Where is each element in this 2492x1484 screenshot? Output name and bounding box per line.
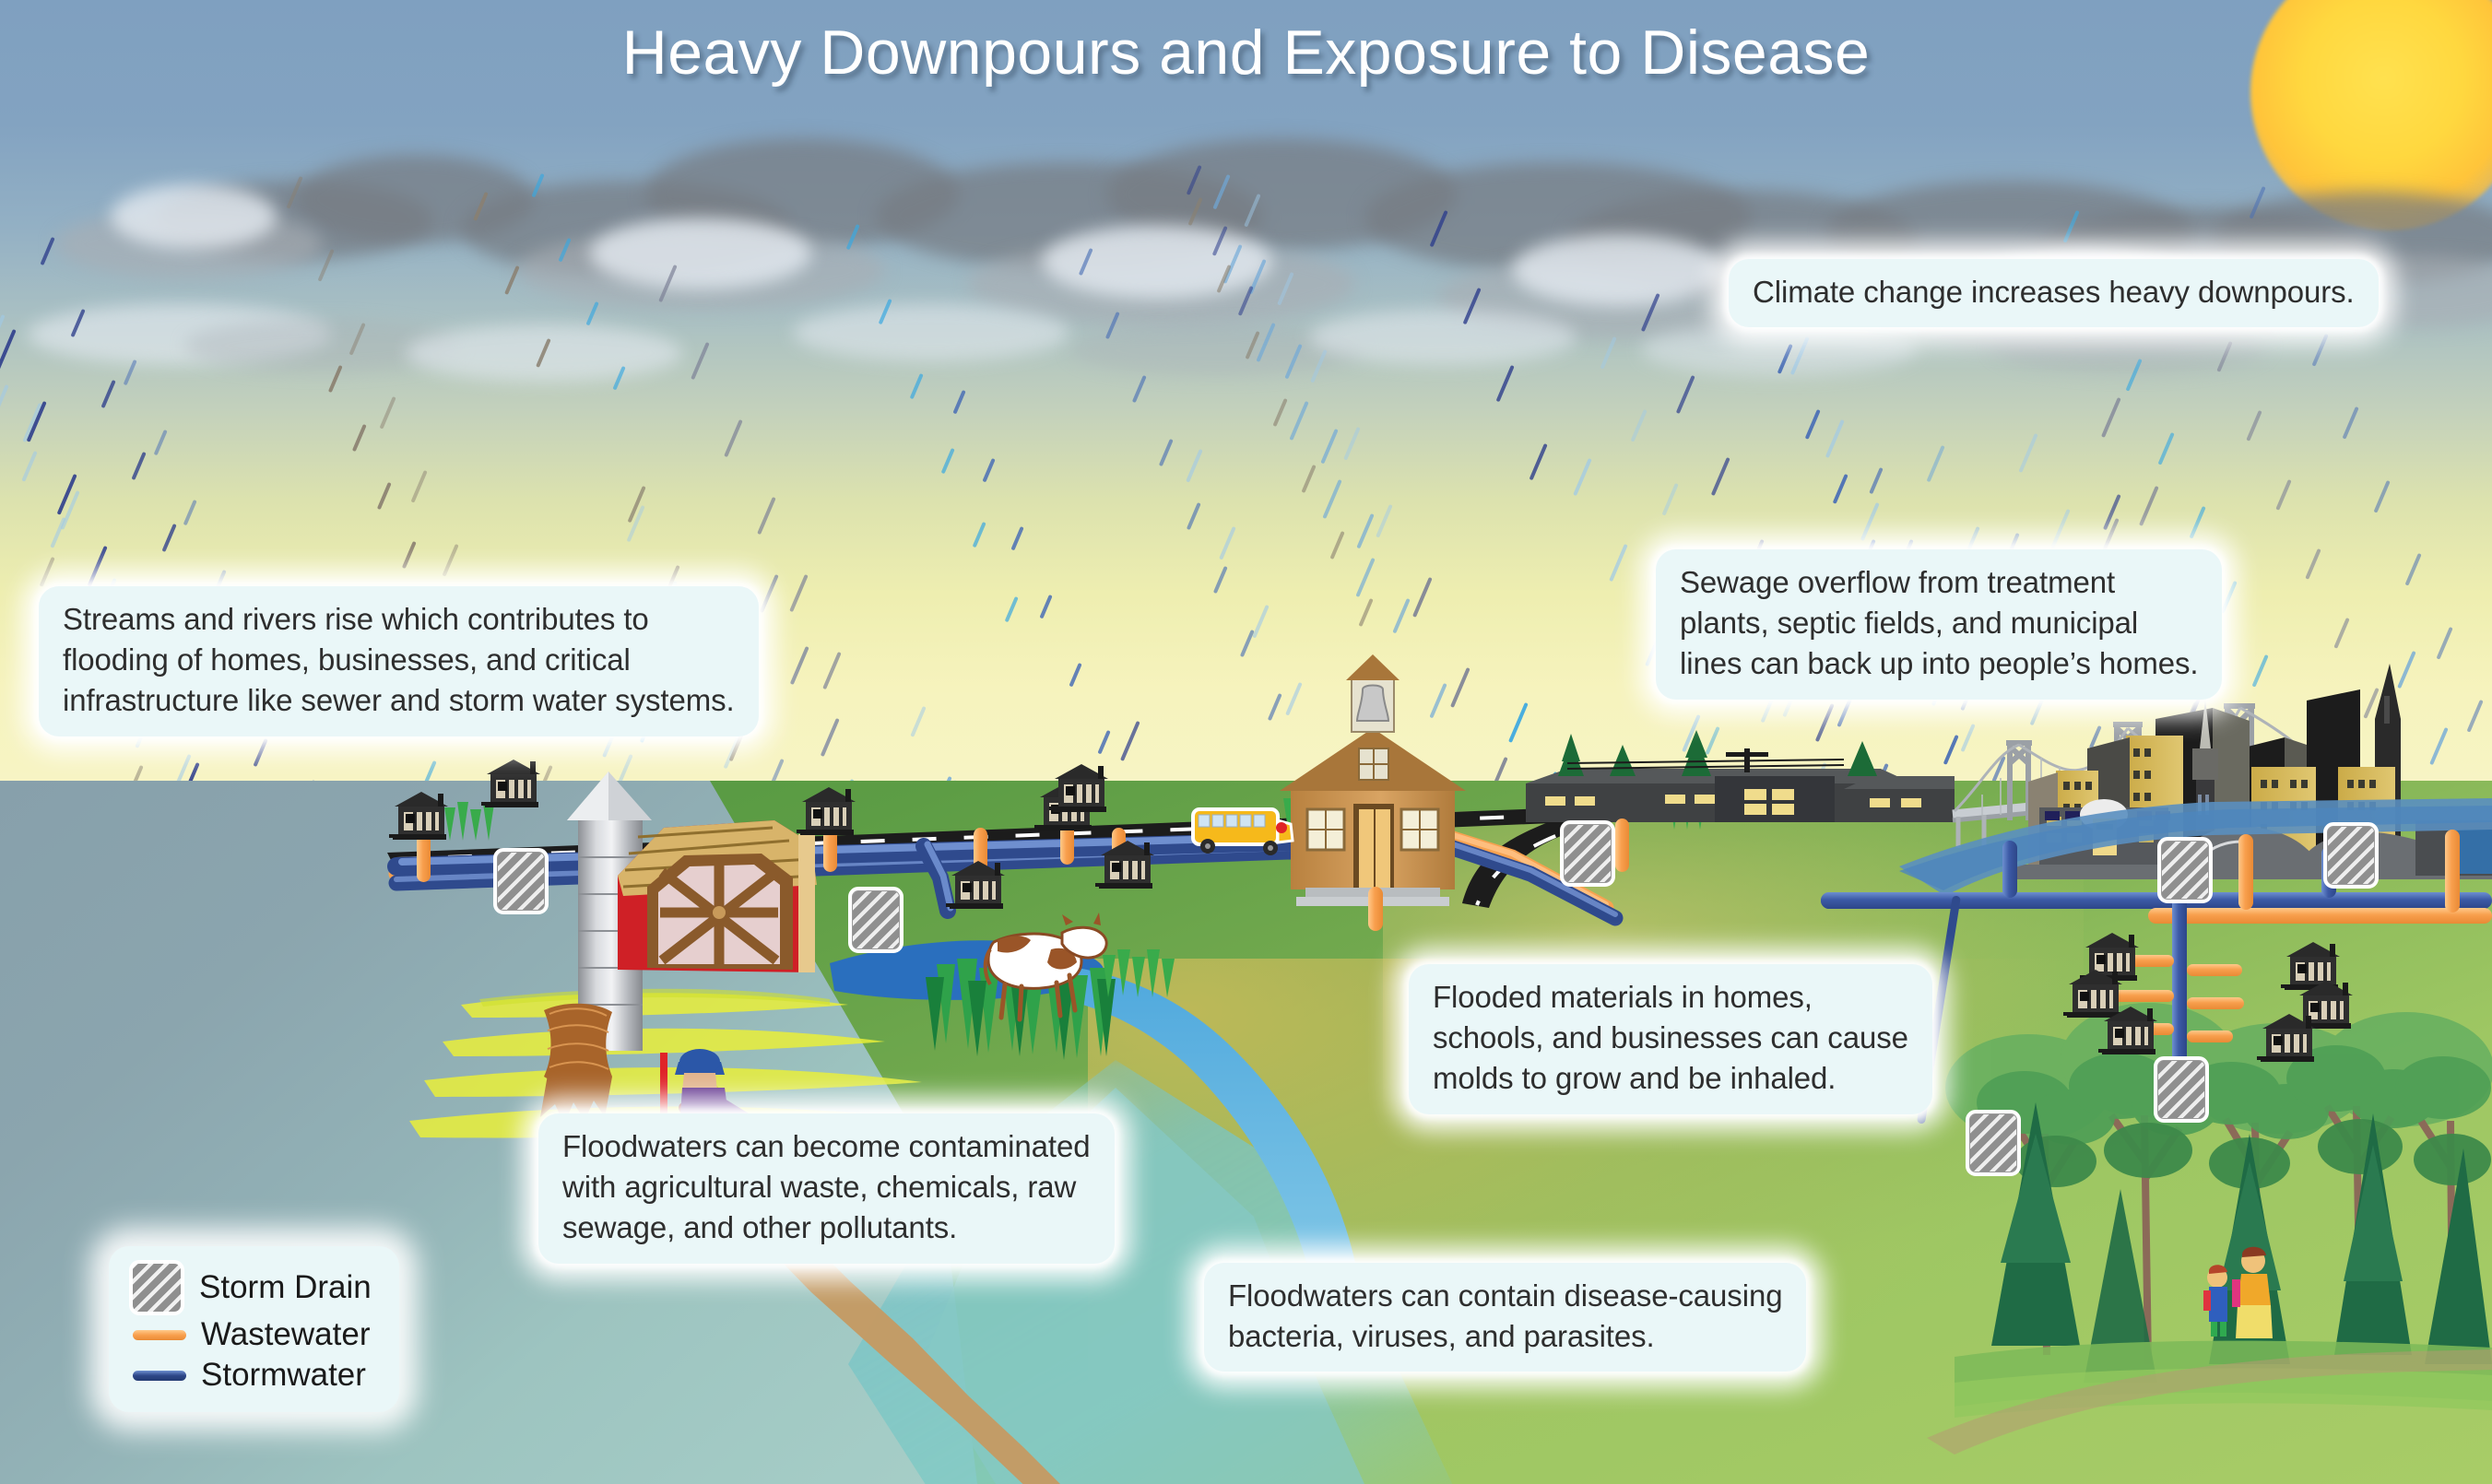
stormwater-trunk-joint [1821,892,1848,909]
storm-drain-city-1[interactable] [2157,837,2213,903]
legend: Storm Drain Wastewater Stormwater [109,1246,399,1412]
storm-drain-farm-2[interactable] [848,887,903,953]
callout-line: infrastructure like sewer and storm wate… [63,680,735,721]
storm-drain-plant[interactable] [1560,820,1615,887]
callout-line: plants, septic fields, and municipal [1680,603,2198,643]
storm-drain-suburb-1[interactable] [2154,1056,2209,1123]
callout-line: schools, and businesses can cause [1433,1018,1908,1058]
wastewater-main-right [2148,908,2492,924]
infographic-canvas: Heavy Downpours and Exposure to Disease … [0,0,2492,1484]
wastewater-lateral-6 [2187,1031,2233,1042]
callout-line: Streams and rivers rise which contribute… [63,599,735,640]
callout-line: bacteria, viruses, and parasites. [1228,1316,1782,1357]
wastewater-riser-city-1 [2238,834,2253,910]
stormwater-line-icon [133,1371,186,1381]
forest [1927,1003,2492,1455]
hay-bale [540,1004,612,1125]
callout-line: Climate change increases heavy downpours… [1753,272,2355,312]
storm-drain-icon [129,1260,184,1315]
storm-drain-suburb-2[interactable] [1966,1110,2021,1176]
stormwater-riser-city-1 [2002,841,2017,898]
storm-drain-city-2[interactable] [2323,822,2379,889]
wastewater-line-icon [133,1330,186,1340]
legend-item-storm-drain: Storm Drain [129,1261,372,1314]
wastewater-riser-plant [1615,819,1629,872]
callout-line: lines can back up into people’s homes. [1680,643,2198,684]
callout-contaminated-floodwaters: Floodwaters can become contaminated with… [538,1113,1115,1264]
callout-climate-change: Climate change increases heavy downpours… [1729,259,2379,327]
storm-drain-farm-1[interactable] [493,848,549,914]
callout-disease-causing: Floodwaters can contain disease-causing … [1204,1263,1806,1372]
callout-line: Flooded materials in homes, [1433,977,1908,1018]
callout-line: molds to grow and be inhaled. [1433,1058,1908,1099]
legend-item-stormwater: Stormwater [129,1355,372,1396]
callout-flooded-materials: Flooded materials in homes, schools, and… [1409,964,1932,1114]
page-title: Heavy Downpours and Exposure to Disease [0,17,2492,88]
stormwater-main-right [1821,892,2492,909]
callout-line: Floodwaters can become contaminated [562,1126,1091,1167]
callout-line: sewage, and other pollutants. [562,1207,1091,1248]
callout-line: flooding of homes, businesses, and criti… [63,640,735,680]
schoolhouse [1280,654,1466,906]
legend-item-wastewater: Wastewater [129,1314,372,1355]
legend-label: Storm Drain [199,1269,372,1306]
legend-label: Wastewater [201,1316,370,1353]
callout-streams-rivers: Streams and rivers rise which contribute… [39,586,759,736]
callout-line: Floodwaters can contain disease-causing [1228,1276,1782,1316]
wastewater-lateral-4 [2187,964,2242,976]
callout-line: with agricultural waste, chemicals, raw [562,1167,1091,1207]
callout-line: Sewage overflow from treatment [1680,562,2198,603]
wastewater-lateral-5 [2187,997,2244,1009]
wastewater-treatment-plant [1526,730,1955,822]
legend-label: Stormwater [201,1357,366,1394]
wastewater-riser-school [1368,887,1383,931]
wastewater-riser-city-3 [2445,830,2460,913]
callout-sewage-overflow: Sewage overflow from treatment plants, s… [1656,549,2222,700]
